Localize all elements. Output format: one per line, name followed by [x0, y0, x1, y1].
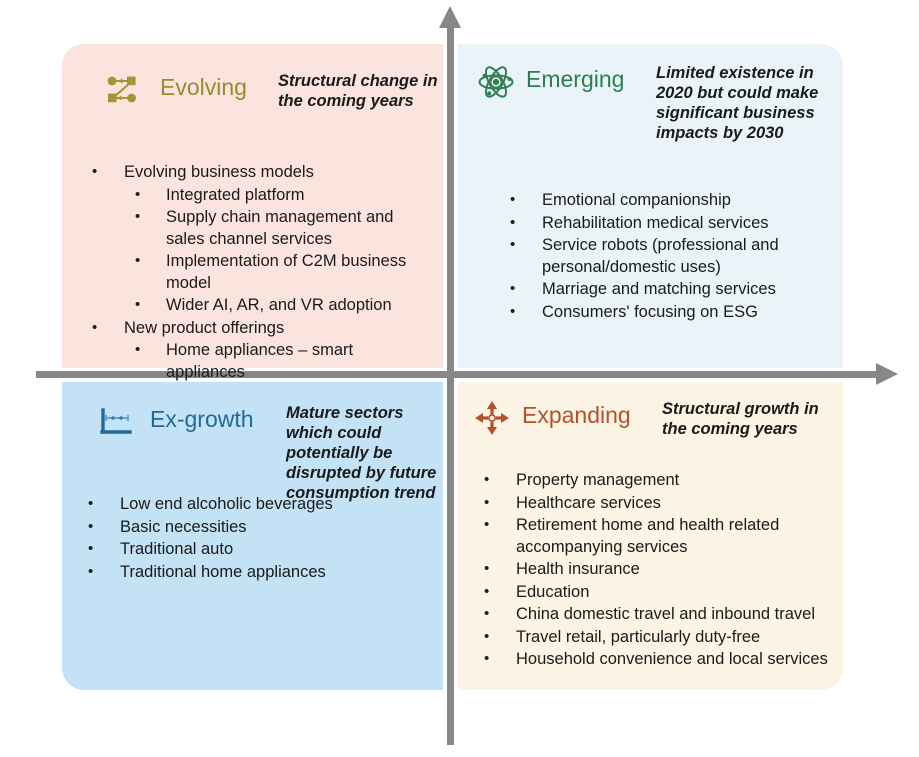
list-item: Evolving business models: [80, 162, 436, 184]
expand-arrows-icon: [472, 398, 512, 438]
horizontal-axis-arrowhead-icon: [876, 363, 898, 385]
quadrant-expanding-title: Expanding: [522, 396, 662, 429]
list-item: Basic necessities: [76, 517, 432, 539]
quadrant-expanding-description: Structural growth in the coming years: [662, 396, 826, 439]
quadrant-ex-growth-list: Low end alcoholic beverages Basic necess…: [76, 494, 432, 584]
list-item: Rehabilitation medical services: [498, 213, 838, 235]
list-item: China domestic travel and inbound travel: [472, 604, 844, 626]
list-item: Education: [472, 582, 844, 604]
list-item: New product offerings: [80, 318, 436, 340]
quadrant-ex-growth-description: Mature sectors which could potentially b…: [286, 400, 444, 503]
quadrant-emerging-header: Emerging Limited existence in 2020 but c…: [476, 60, 832, 143]
list-item: Property management: [472, 470, 844, 492]
network-nodes-icon: [102, 70, 142, 110]
quadrant-evolving-title: Evolving: [160, 68, 278, 101]
atom-icon: [476, 62, 516, 102]
quadrant-emerging-list: Emotional companionship Rehabilitation m…: [498, 190, 838, 324]
quadrant-emerging-description: Limited existence in 2020 but could make…: [656, 60, 832, 143]
quadrant-emerging[interactable]: Emerging Limited existence in 2020 but c…: [458, 44, 843, 368]
list-item: Household convenience and local services: [472, 649, 844, 671]
flat-line-chart-icon: [96, 402, 136, 442]
vertical-axis-arrowhead-icon: [439, 6, 461, 28]
quadrant-ex-growth[interactable]: Ex-growth Mature sectors which could pot…: [62, 382, 443, 690]
list-item: Home appliances – smart appliances: [80, 340, 436, 383]
quadrant-evolving[interactable]: Evolving Structural change in the coming…: [62, 44, 443, 368]
list-item: Traditional auto: [76, 539, 432, 561]
list-item: Implementation of C2M business model: [80, 251, 436, 294]
quadrant-ex-growth-title: Ex-growth: [150, 400, 286, 433]
list-item: Low end alcoholic beverages: [76, 494, 432, 516]
list-item: Emotional companionship: [498, 190, 838, 212]
quadrant-matrix-diagram: Evolving Structural change in the coming…: [0, 0, 919, 757]
list-item: Health insurance: [472, 559, 844, 581]
quadrant-evolving-description: Structural change in the coming years: [278, 68, 446, 111]
list-item: Consumers' focusing on ESG: [498, 302, 838, 324]
list-item: Integrated platform: [80, 185, 436, 207]
quadrant-expanding-list: Property management Healthcare services …: [472, 470, 844, 672]
list-item: Service robots (professional and persona…: [498, 235, 838, 278]
list-item: Marriage and matching services: [498, 279, 838, 301]
quadrant-evolving-list: Evolving business models Integrated plat…: [80, 162, 436, 407]
quadrant-emerging-title: Emerging: [526, 60, 656, 93]
list-item: Travel retail, particularly duty-free: [472, 627, 844, 649]
quadrant-expanding[interactable]: Expanding Structural growth in the comin…: [458, 382, 843, 690]
list-item: Supply chain management and sales channe…: [80, 207, 436, 250]
quadrant-expanding-header: Expanding Structural growth in the comin…: [472, 396, 826, 439]
quadrant-evolving-header: Evolving Structural change in the coming…: [102, 68, 446, 111]
vertical-axis-line: [447, 26, 454, 745]
list-item: Traditional home appliances: [76, 562, 432, 584]
quadrant-ex-growth-header: Ex-growth Mature sectors which could pot…: [96, 400, 444, 503]
list-item: Wider AI, AR, and VR adoption: [80, 295, 436, 317]
list-item: Retirement home and health related accom…: [472, 515, 844, 558]
list-item: Healthcare services: [472, 493, 844, 515]
